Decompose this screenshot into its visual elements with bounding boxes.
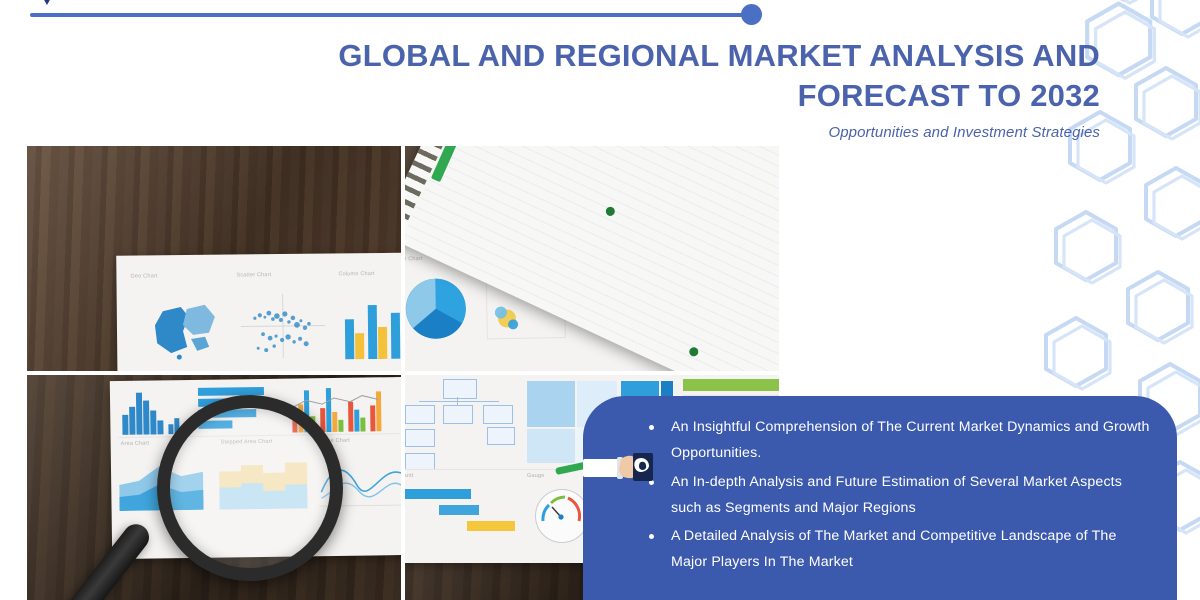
photo-magnifier-area-line: Area Chart Stepped Area Chart Line Chart [27,375,401,600]
list-item: A Detailed Analysis of The Market and Co… [643,523,1151,576]
chart-caption: Geo Chart [130,273,157,279]
chart-caption: Pie Chart [405,256,423,262]
page-subtitle: Opportunities and Investment Strategies [300,124,1100,141]
heading-block: GLOBAL AND REGIONAL MARKET ANALYSIS AND … [300,36,1100,141]
bullet-list: An Insightful Comprehension of The Curre… [643,414,1151,576]
chart-caption: Scatter Chart [236,272,271,278]
report-sheet-1: Geo Chart Scatter Chart Column Chart [116,252,401,371]
slider-knob[interactable] [741,4,762,25]
chart-caption: Gauge [527,473,545,479]
photo-notebook-pie-donut: Pie Chart Bubble Chart Donut Chart [405,146,779,371]
slider-track[interactable] [30,13,752,17]
column-chart-thumb [341,292,401,359]
page-title-line-1: GLOBAL AND REGIONAL MARKET ANALYSIS AND [300,36,1100,76]
list-item: An Insightful Comprehension of The Curre… [643,414,1151,467]
slide-canvas: GLOBAL AND REGIONAL MARKET ANALYSIS AND … [0,0,1200,600]
geo-chart-thumb [143,295,224,362]
pie-chart-thumb [405,271,473,346]
chart-caption: Gantt [405,473,413,479]
page-title-line-2: FORECAST TO 2032 [300,76,1100,116]
hand-holding-pen-icon [583,445,663,489]
photo-geo-scatter-column: Geo Chart Scatter Chart Column Chart [27,146,401,371]
chart-caption: Column Chart [338,271,374,277]
scatter-chart-thumb [239,292,328,361]
gauge-needle-memory [535,489,587,541]
magnifier-icon [47,377,347,600]
chevron-down-icon [36,0,58,10]
bullet-panel: An Insightful Comprehension of The Curre… [583,396,1177,600]
list-item: An In-depth Analysis and Future Estimati… [643,469,1151,522]
